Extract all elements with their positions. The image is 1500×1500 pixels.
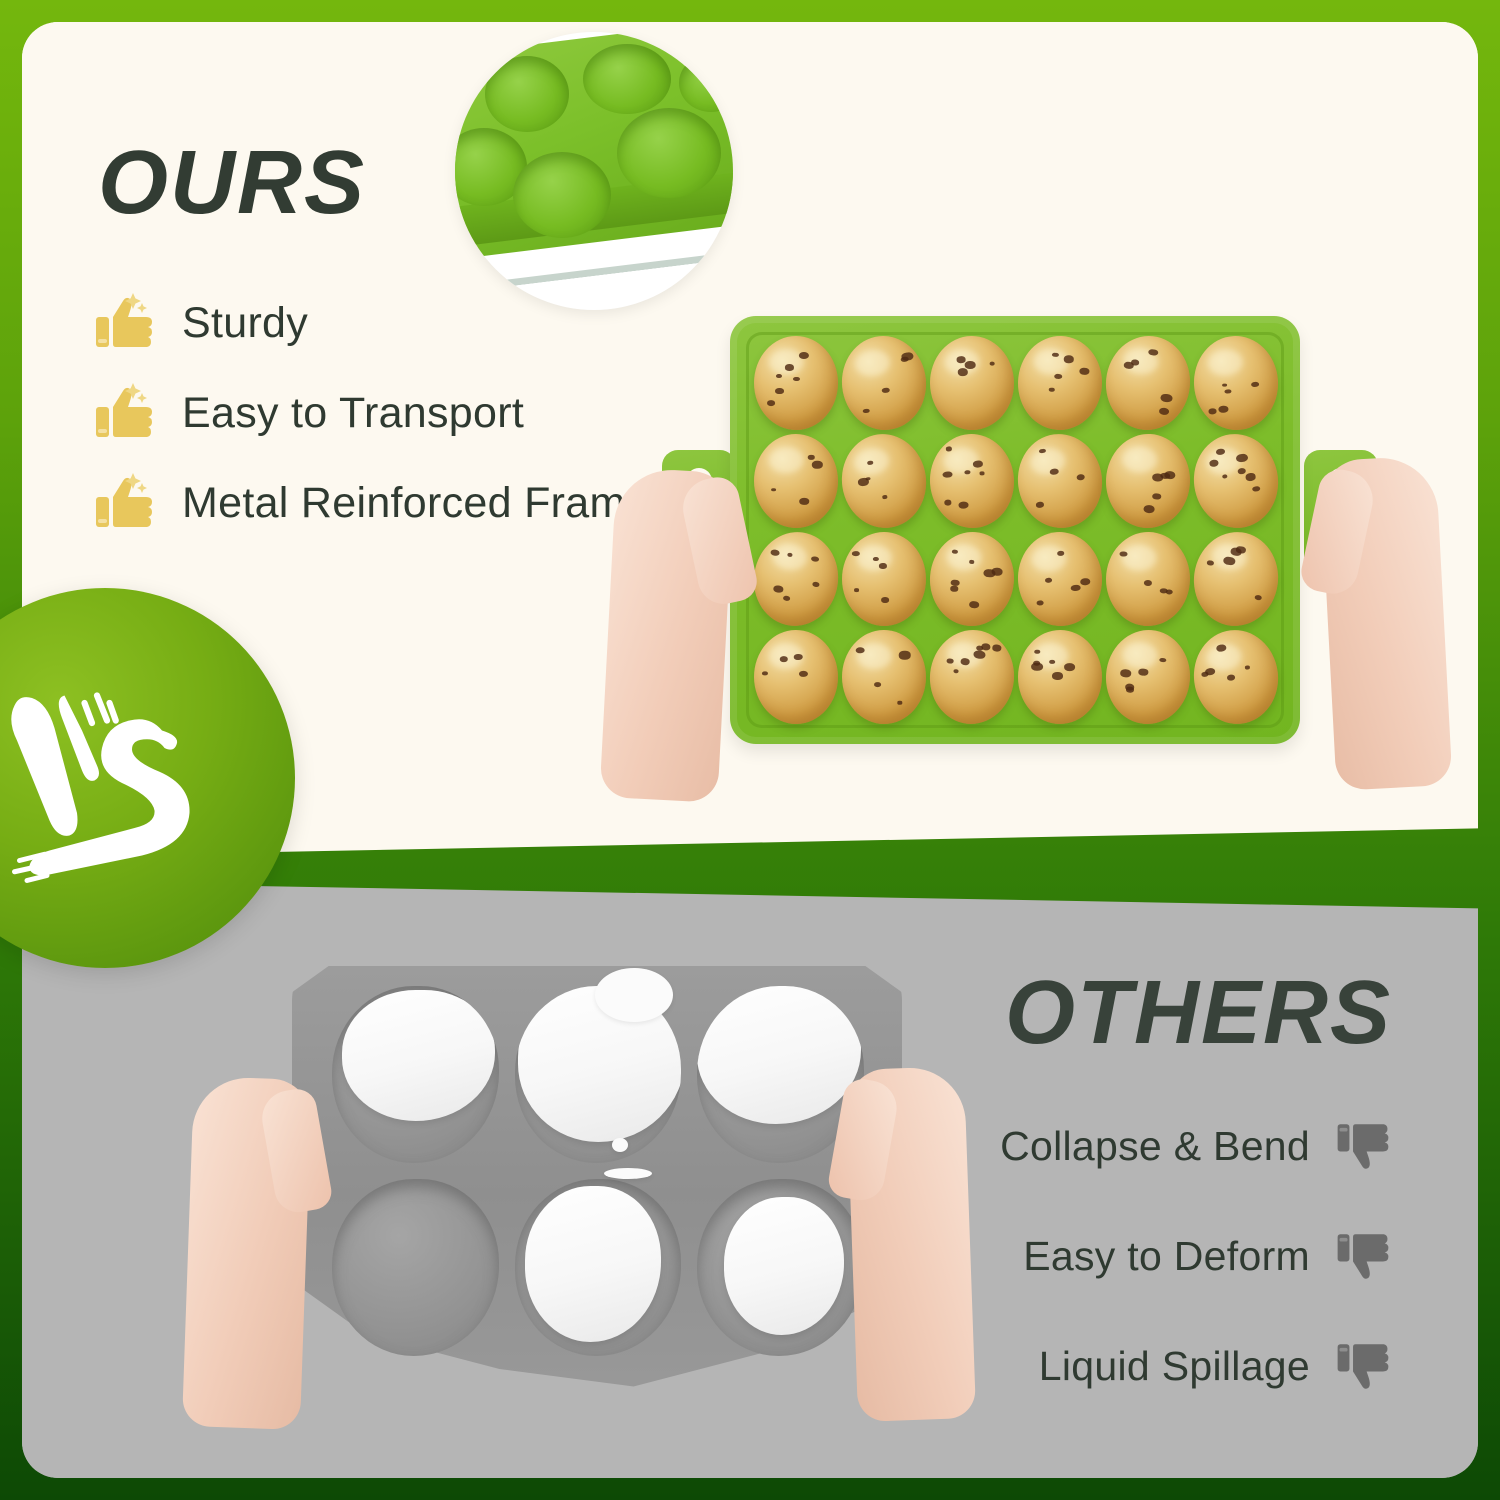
chocolate-chip — [799, 352, 810, 359]
chocolate-chip — [1159, 407, 1170, 415]
chocolate-chip — [1063, 356, 1074, 364]
feature-label: Easy to Transport — [182, 389, 524, 438]
chocolate-chip — [1071, 584, 1081, 591]
chocolate-chip — [1159, 657, 1166, 662]
chocolate-chip — [969, 601, 980, 609]
chocolate-chip — [1143, 505, 1155, 514]
chocolate-chip — [1120, 669, 1132, 677]
chocolate-chip — [973, 461, 983, 469]
chocolate-chip — [1218, 405, 1229, 413]
chocolate-chip — [1080, 578, 1090, 586]
thumbs-down-icon — [1334, 1117, 1392, 1175]
chocolate-chip — [874, 682, 881, 687]
chocolate-chip — [762, 671, 768, 675]
chocolate-chip — [1235, 453, 1248, 463]
chocolate-chip — [943, 471, 953, 478]
chocolate-chip — [782, 595, 790, 601]
chocolate-chip — [811, 556, 819, 562]
muffin — [1189, 625, 1284, 729]
chocolate-chip — [1236, 546, 1246, 554]
chocolate-chip — [964, 361, 975, 369]
chocolate-chip — [981, 643, 991, 651]
chocolate-chip — [799, 671, 808, 678]
chocolate-chip — [964, 470, 970, 474]
spilled-batter — [724, 1197, 844, 1335]
muffin — [1103, 627, 1194, 727]
chocolate-chip — [969, 560, 974, 564]
chocolate-chip — [1035, 650, 1041, 654]
chocolate-chip — [1076, 474, 1086, 481]
chocolate-chip — [1209, 459, 1220, 467]
list-item: Collapse & Bend — [1000, 1110, 1392, 1182]
muffin — [753, 629, 838, 724]
chocolate-chip — [1222, 474, 1228, 478]
inset-cavity — [485, 56, 569, 132]
chocolate-chip — [1227, 674, 1236, 681]
chocolate-chip — [1054, 373, 1062, 379]
mold-cavity-grid — [332, 986, 864, 1356]
chocolate-chip — [1225, 389, 1232, 394]
muffin — [1104, 432, 1193, 530]
chocolate-chip — [1165, 589, 1173, 595]
chocolate-chip — [1080, 367, 1090, 374]
batter-spill-drip — [604, 1168, 652, 1179]
chocolate-chip — [901, 356, 910, 362]
chocolate-chip — [767, 400, 776, 406]
chocolate-chip — [1049, 660, 1055, 664]
chocolate-chip — [1045, 577, 1053, 583]
feature-label: Sturdy — [182, 299, 308, 348]
chocolate-chip — [1049, 388, 1054, 392]
chocolate-chip — [973, 650, 985, 659]
chocolate-chip — [867, 461, 873, 466]
chocolate-chip — [1215, 448, 1224, 455]
chocolate-chip — [882, 495, 888, 499]
chocolate-chip — [897, 701, 902, 705]
chocolate-chip — [793, 377, 799, 381]
chocolate-chip — [770, 549, 780, 557]
muffin — [925, 626, 1019, 729]
mold-cavity-empty — [332, 1179, 499, 1356]
chocolate-chip — [787, 553, 793, 557]
mold-cavity — [515, 1179, 682, 1356]
ours-heading: OURS — [98, 138, 366, 228]
chocolate-chip — [1049, 468, 1059, 476]
chocolate-chip — [1052, 352, 1059, 357]
muffin — [929, 335, 1015, 430]
chocolate-chip — [960, 658, 970, 666]
chocolate-chip — [773, 585, 783, 593]
chocolate-chip — [958, 368, 969, 375]
list-item: Metal Reinforced Frame — [92, 465, 650, 541]
chocolate-chip — [983, 569, 995, 578]
spilled-batter — [697, 986, 860, 1124]
chocolate-chip — [947, 658, 954, 663]
thumbs-down-icon — [1334, 1227, 1392, 1285]
chocolate-chip — [1120, 551, 1128, 557]
muffin-grid — [754, 336, 1278, 724]
chocolate-chip — [881, 387, 889, 393]
chocolate-chip — [879, 563, 887, 569]
muffin — [842, 532, 926, 626]
thumbs-up-sparkle-icon — [92, 291, 156, 355]
chocolate-chip — [1036, 502, 1045, 509]
chocolate-chip — [989, 361, 995, 365]
chocolate-chip — [775, 388, 784, 394]
muffin — [1016, 335, 1103, 432]
feature-label: Metal Reinforced Frame — [182, 479, 650, 528]
chocolate-chip — [1033, 661, 1040, 666]
list-item: Liquid Spillage — [1000, 1330, 1392, 1402]
muffin — [1188, 429, 1284, 533]
inset-cavity — [583, 44, 671, 114]
chocolate-chip — [808, 455, 815, 460]
chocolate-chip — [1216, 644, 1227, 652]
chocolate-chip — [1052, 672, 1063, 680]
muffin — [837, 332, 930, 434]
ours-feature-list: Sturdy Easy to Transport Metal Reinforce — [92, 285, 650, 555]
list-item: Easy to Deform — [1000, 1220, 1392, 1292]
chocolate-chip — [945, 447, 951, 452]
vs-brush-icon — [0, 653, 227, 903]
muffin — [754, 434, 839, 529]
chocolate-chip — [1202, 672, 1210, 678]
mold-cavity — [697, 1179, 864, 1356]
chocolate-chip — [1037, 600, 1045, 606]
muffin — [841, 629, 926, 724]
chocolate-chip — [956, 357, 965, 363]
chocolate-chip — [1123, 361, 1134, 369]
muffin — [1015, 529, 1105, 629]
chocolate-chip — [771, 488, 776, 492]
chocolate-chip — [944, 500, 952, 506]
chocolate-chip — [1143, 580, 1152, 586]
chocolate-chip — [776, 374, 782, 378]
chocolate-chip — [852, 551, 860, 556]
feature-label: Liquid Spillage — [1039, 1343, 1310, 1390]
chocolate-chip — [1148, 349, 1158, 357]
muffin — [748, 526, 845, 631]
muffin — [1191, 334, 1280, 433]
others-feature-list: Collapse & Bend Easy to Deform Liquid Sp… — [1000, 1110, 1392, 1440]
muffin — [1105, 531, 1191, 627]
chocolate-chip — [1207, 560, 1214, 566]
chocolate-chip — [854, 588, 859, 592]
chocolate-chip — [1222, 383, 1227, 387]
inset-cavity — [617, 108, 721, 198]
chocolate-chip — [958, 501, 969, 509]
chocolate-chip — [1245, 473, 1256, 481]
chocolate-chip — [812, 461, 823, 469]
feature-label: Easy to Deform — [1023, 1233, 1310, 1280]
muffin — [1101, 332, 1195, 434]
muffin — [927, 431, 1017, 530]
spilled-batter — [525, 1186, 662, 1342]
chocolate-chip — [1245, 665, 1250, 669]
chocolate-chip — [799, 497, 809, 504]
batter-spill-drip — [612, 1138, 628, 1152]
metal-frame-detail-inset — [455, 32, 733, 310]
thumbs-up-sparkle-icon — [92, 471, 156, 535]
chocolate-chip — [1138, 668, 1148, 675]
chocolate-chip — [1252, 486, 1261, 493]
chocolate-chip — [1160, 394, 1172, 403]
chocolate-chip — [1237, 467, 1247, 474]
chocolate-chip — [992, 644, 1002, 651]
batter-spill-blob — [595, 968, 673, 1022]
muffin — [1018, 630, 1103, 725]
chocolate-chip — [812, 582, 820, 588]
muffin — [927, 529, 1018, 629]
chocolate-chip — [1251, 381, 1259, 387]
chocolate-chip — [1039, 449, 1046, 454]
spilled-batter — [342, 990, 495, 1121]
chocolate-chip — [951, 580, 960, 586]
chocolate-chip — [856, 647, 865, 654]
muffin — [1012, 429, 1108, 533]
chocolate-chip — [980, 472, 985, 476]
muffin — [754, 336, 838, 430]
chocolate-chip — [862, 408, 869, 414]
chocolate-chip — [794, 654, 803, 660]
chocolate-chip — [952, 550, 958, 554]
chocolate-chip — [950, 586, 958, 592]
chocolate-chip — [1064, 663, 1075, 671]
chocolate-chip — [779, 656, 787, 662]
chocolate-chip — [899, 651, 911, 659]
chocolate-chip — [785, 364, 794, 370]
muffin — [836, 428, 933, 533]
thumbs-down-icon — [1334, 1337, 1392, 1395]
chocolate-chip — [873, 557, 879, 561]
chocolate-chip — [1254, 595, 1262, 601]
muffin — [1188, 527, 1284, 631]
chocolate-chip — [1152, 493, 1161, 499]
chocolate-chip — [953, 669, 959, 673]
chocolate-chip — [1223, 556, 1235, 565]
others-heading: OTHERS — [1005, 968, 1392, 1058]
chocolate-chip — [1209, 408, 1217, 414]
chocolate-chip — [1057, 551, 1064, 556]
thumbs-up-sparkle-icon — [92, 381, 156, 445]
mold-cavity — [332, 986, 499, 1163]
chocolate-chip — [881, 597, 889, 603]
feature-label: Collapse & Bend — [1000, 1123, 1310, 1170]
list-item: Easy to Transport — [92, 375, 650, 451]
